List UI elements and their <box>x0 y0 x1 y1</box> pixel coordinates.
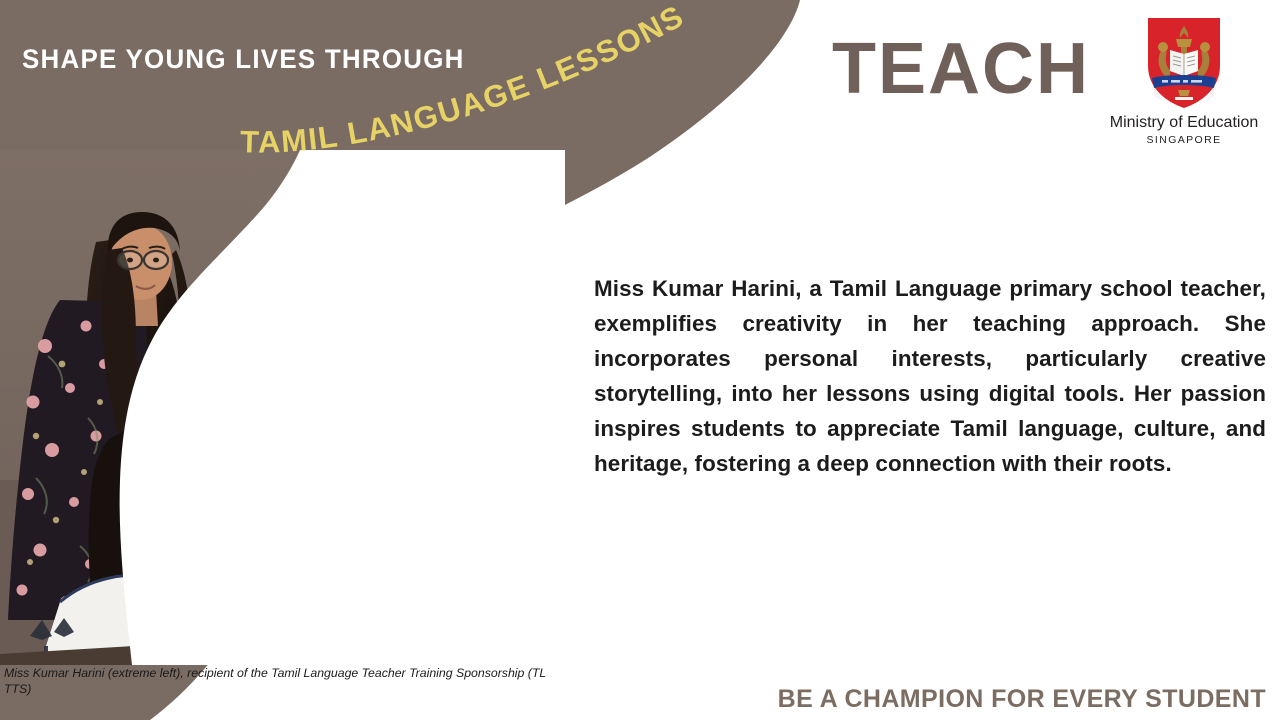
ministry-country-label: SINGAPORE <box>1098 134 1270 146</box>
ministry-name-label: Ministry of Education <box>1098 115 1270 132</box>
classroom-photo <box>0 150 565 665</box>
body-paragraph: Miss Kumar Harini, a Tamil Language prim… <box>594 271 1266 481</box>
page-title: SHAPE YOUNG LIVES THROUGH <box>22 46 465 73</box>
moe-logo: Ministry of Education SINGAPORE <box>1098 14 1270 146</box>
poster-canvas: SHAPE YOUNG LIVES THROUGH TAMIL LANGUAGE… <box>0 0 1280 720</box>
photo-caption: Miss Kumar Harini (extreme left), recipi… <box>4 666 574 697</box>
moe-crest-icon <box>1142 14 1226 110</box>
footer-tagline: BE A CHAMPION FOR EVERY STUDENT <box>778 687 1266 712</box>
teach-wordmark: TEACH <box>832 33 1090 105</box>
